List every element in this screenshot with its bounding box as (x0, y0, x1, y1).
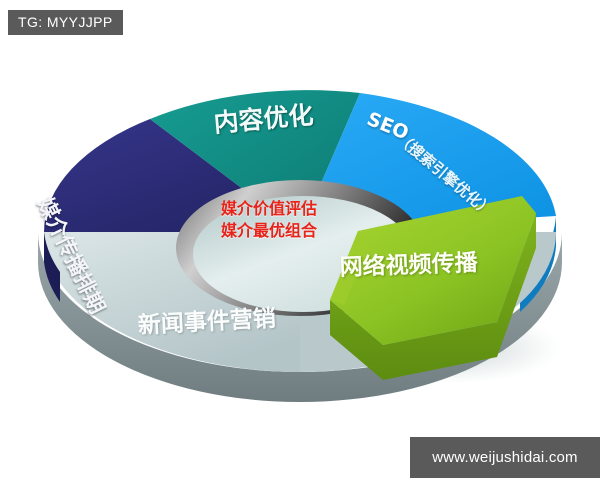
diagram-canvas: TG: MYYJJPP (0, 0, 600, 480)
donut-chart-graphic (0, 0, 600, 480)
site-watermark: www.weijushidai.com (410, 437, 600, 478)
tg-badge: TG: MYYJJPP (8, 10, 123, 35)
